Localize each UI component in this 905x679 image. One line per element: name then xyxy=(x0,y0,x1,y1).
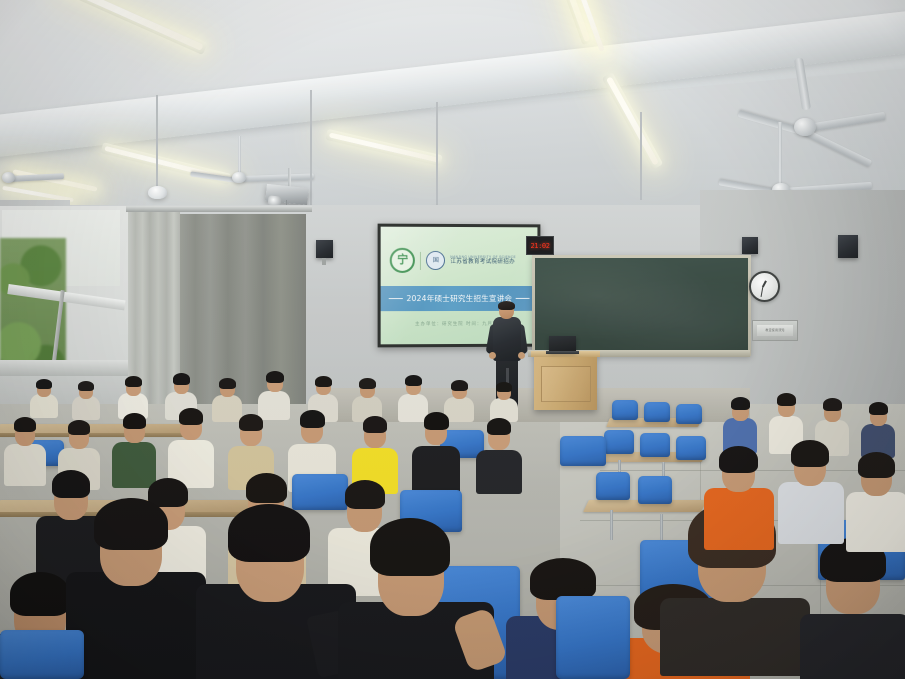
audience-member xyxy=(846,452,905,548)
wall-speaker-right xyxy=(838,235,858,258)
laptop[interactable] xyxy=(549,336,576,352)
slide-org-text: NANJING UNIVERSITY OF SCIENCE 江苏省教育考试院研招… xyxy=(450,256,516,266)
org-chinese-line: 江苏省教育考试院研招办 xyxy=(450,260,516,266)
ceiling-fan-3 xyxy=(190,136,330,206)
audience-member xyxy=(704,446,774,546)
audience-member xyxy=(66,498,206,679)
pendant-cable-3 xyxy=(436,102,438,208)
audience-member xyxy=(778,440,844,540)
pendant-cable-4 xyxy=(640,112,642,200)
seat-foreground-5[interactable] xyxy=(0,630,84,679)
wall-notice-frame: 教室使用须知 xyxy=(752,320,798,341)
audience-cluster-right xyxy=(700,430,905,570)
ceiling-fan-4 xyxy=(0,146,90,206)
audience-member xyxy=(196,504,356,679)
curtain-rod xyxy=(126,206,312,212)
wall-speaker-left xyxy=(316,240,333,258)
presenter-hand-right xyxy=(518,352,525,359)
wall-notice-text: 教室使用须知 xyxy=(765,328,784,332)
presenter-hair xyxy=(498,301,515,310)
pendant-lamp-1 xyxy=(148,186,167,199)
exam-authority-icon: 国 xyxy=(426,251,445,270)
clock-minute-hand xyxy=(760,286,763,296)
wall-speaker-left-bracket xyxy=(322,258,326,265)
logo-divider xyxy=(420,252,421,270)
banner-rule-left xyxy=(388,298,402,299)
audience-member xyxy=(338,518,494,679)
slide-logo-row: 宁 国 NANJING UNIVERSITY OF SCIENCE 江苏省教育考… xyxy=(390,243,528,278)
pendant-cable-2 xyxy=(310,90,313,208)
seat-foreground-6[interactable] xyxy=(556,596,630,679)
university-seal-icon: 宁 xyxy=(390,248,415,273)
presenter-hand-left xyxy=(489,352,496,359)
laptop-base xyxy=(546,351,579,354)
presenter-torso xyxy=(493,317,521,361)
wall-notice-inner: 教室使用须知 xyxy=(757,325,794,337)
banner-rule-right xyxy=(516,298,530,299)
wall-clock xyxy=(749,271,780,302)
wall-speaker-mid xyxy=(742,237,758,254)
led-clock-panel: 21:02 xyxy=(526,236,554,255)
pendant-cable-1 xyxy=(156,95,159,187)
led-clock-text: 21:02 xyxy=(530,242,549,250)
clock-hour-hand xyxy=(762,280,766,286)
classroom-photo: 宁 国 NANJING UNIVERSITY OF SCIENCE 江苏省教育考… xyxy=(0,0,905,679)
